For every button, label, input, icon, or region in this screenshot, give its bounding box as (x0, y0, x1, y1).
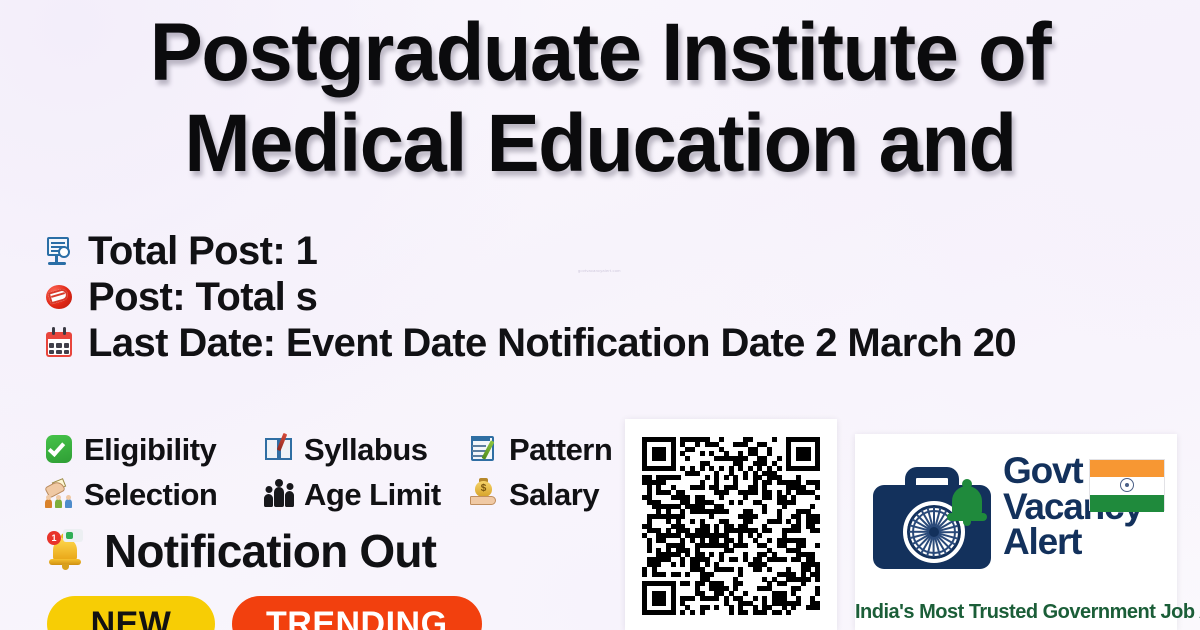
page-title: Postgraduate Institute of Medical Educat… (0, 14, 1200, 183)
title-line-1: Postgraduate Institute of (18, 14, 1182, 93)
feature-label-eligibility: Eligibility (84, 434, 216, 465)
logo-bell-icon (947, 479, 987, 525)
notification-banner: 1 Notification Out (44, 528, 436, 574)
feature-syllabus: Syllabus (264, 434, 469, 465)
feature-selection: Selection (44, 479, 264, 510)
brand-tagline: India's Most Trusted Government Job Aler… (855, 601, 1177, 624)
badge-trending[interactable]: TRENDING (232, 596, 482, 630)
notification-text: Notification Out (104, 528, 436, 574)
badge-new[interactable]: NEW (47, 596, 215, 630)
brand-logo-card: Govt Vacancy Alert India's Most Trusted … (855, 434, 1177, 630)
feature-salary: Salary (469, 479, 599, 510)
bell-icon: 1 (44, 529, 88, 573)
money-bag-icon (469, 479, 499, 509)
feature-row-1: Eligibility Syllabus Pattern (44, 430, 612, 468)
feature-label-age-limit: Age Limit (304, 479, 441, 510)
brand-word-3: Alert (1003, 524, 1167, 560)
bell-badge-count: 1 (47, 531, 61, 545)
feature-age-limit: Age Limit (264, 479, 469, 510)
title-line-2: Medical Education and (18, 105, 1182, 184)
info-text-last-date: Last Date: Event Date Notification Date … (88, 323, 1016, 363)
feature-eligibility: Eligibility (44, 434, 264, 465)
calendar-icon (44, 327, 74, 359)
info-text-post: Post: Total s (88, 277, 317, 317)
info-row-last-date: Last Date: Event Date Notification Date … (44, 320, 1200, 366)
feature-label-syllabus: Syllabus (304, 434, 428, 465)
brand-wordmark: Govt Vacancy Alert (1003, 453, 1167, 573)
info-text-total-post: Total Post: 1 (88, 231, 317, 271)
qr-code[interactable] (642, 437, 820, 615)
green-check-icon (44, 434, 74, 464)
megaphone-icon (44, 281, 74, 313)
feature-row-2: Selection Age Limit Salary (44, 475, 612, 513)
feature-pattern: Pattern (469, 434, 612, 465)
india-flag-icon (1089, 459, 1165, 511)
feature-label-pattern: Pattern (509, 434, 612, 465)
badge-row: NEW TRENDING (47, 596, 482, 630)
document-search-icon (44, 235, 74, 267)
feature-grid: Eligibility Syllabus Pattern Selection A… (44, 430, 612, 513)
selection-hand-icon (44, 479, 74, 509)
family-people-icon (264, 479, 294, 509)
open-book-icon (264, 434, 294, 464)
watermark-text: govtvacancyalert.com (578, 268, 621, 273)
poster-canvas: Postgraduate Institute of Medical Educat… (0, 0, 1200, 630)
info-row-post: Post: Total s (44, 274, 1200, 320)
briefcase-chakra-bell-logo-icon (869, 453, 995, 573)
info-list: Total Post: 1 Post: Total s Last Date: E… (44, 228, 1200, 366)
info-row-total-post: Total Post: 1 (44, 228, 1200, 274)
feature-label-salary: Salary (509, 479, 599, 510)
qr-code-card[interactable] (625, 419, 837, 630)
bell-chip-icon (63, 529, 83, 542)
exam-paper-icon (469, 434, 499, 464)
feature-label-selection: Selection (84, 479, 217, 510)
